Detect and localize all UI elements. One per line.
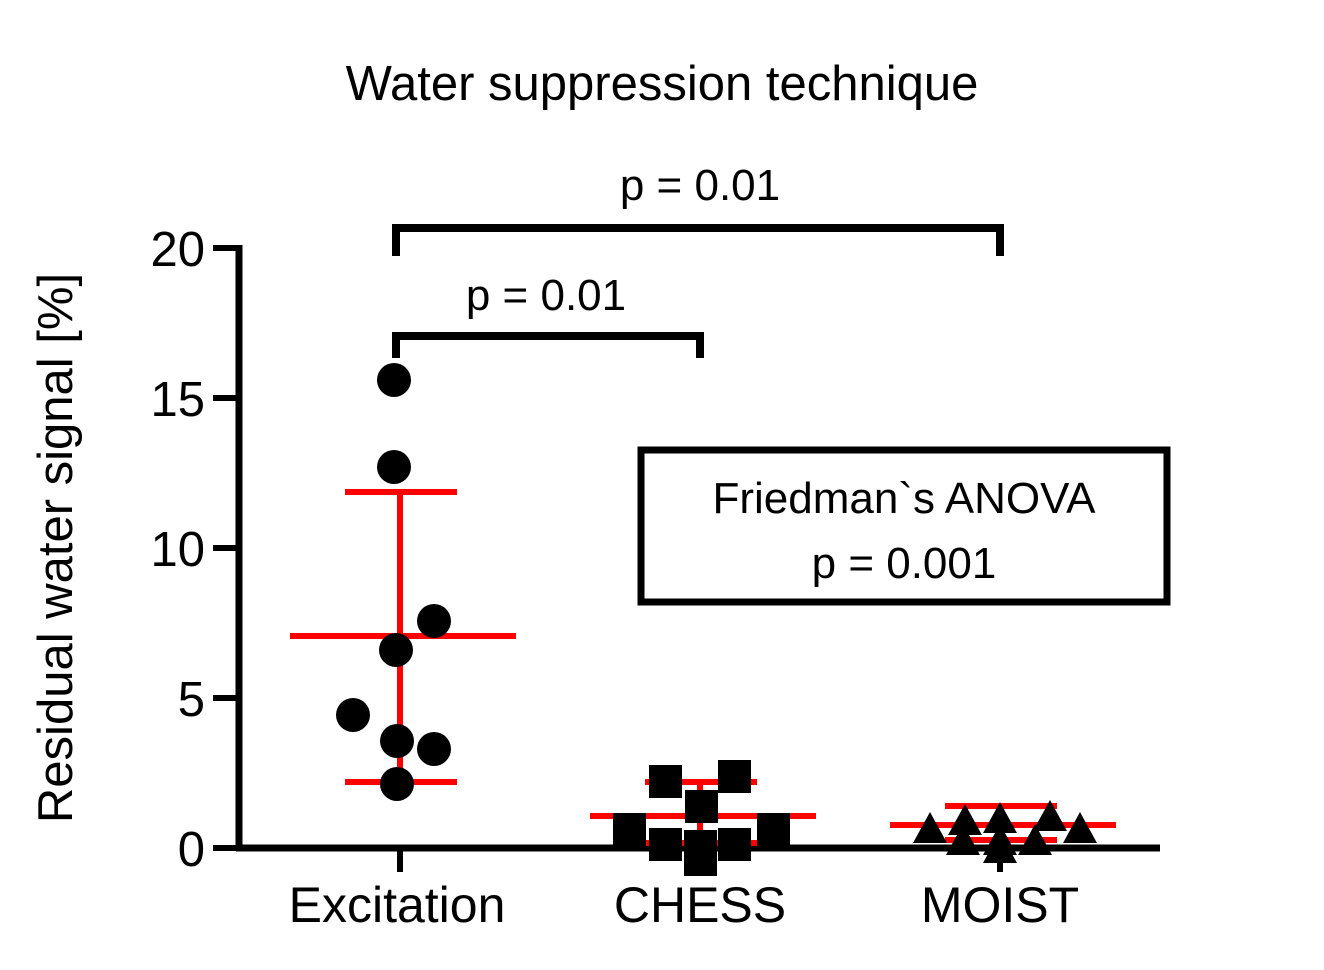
scatter-plot-svg: Water suppression technique Residual wat…: [0, 0, 1324, 970]
stats-box-line2: p = 0.001: [812, 539, 997, 588]
data-point: [377, 363, 411, 397]
y-tick-label-20: 20: [150, 223, 205, 277]
stats-annotation-box: Friedman`s ANOVA p = 0.001: [641, 450, 1167, 602]
data-point: [379, 633, 413, 667]
y-tick-label-5: 5: [178, 673, 205, 727]
bracket-label-top: p = 0.01: [620, 161, 780, 210]
stats-box-line1: Friedman`s ANOVA: [712, 474, 1096, 523]
data-point: [613, 813, 646, 846]
x-axis-label-moist: MOIST: [921, 877, 1079, 933]
data-point: [757, 813, 790, 846]
data-point: [417, 732, 451, 766]
x-axis-label-chess: CHESS: [614, 877, 786, 933]
data-point: [718, 760, 751, 793]
data-point: [685, 790, 718, 823]
x-axis-label-excitation: Excitation: [289, 877, 506, 933]
y-tick-label-15: 15: [150, 373, 205, 427]
data-point: [718, 828, 751, 861]
data-point: [377, 450, 411, 484]
data-point: [649, 765, 682, 798]
data-point: [649, 828, 682, 861]
data-point: [417, 604, 451, 638]
y-tick-label-0: 0: [178, 823, 205, 877]
data-point: [684, 843, 717, 876]
data-point: [380, 767, 414, 801]
data-point: [380, 724, 414, 758]
bracket-label-mid: p = 0.01: [466, 271, 626, 320]
y-tick-label-10: 10: [150, 523, 205, 577]
data-point: [336, 698, 370, 732]
y-axis-label: Residual water signal [%]: [29, 273, 83, 823]
chart-title: Water suppression technique: [346, 57, 979, 111]
chart-figure: Water suppression technique Residual wat…: [0, 0, 1324, 970]
